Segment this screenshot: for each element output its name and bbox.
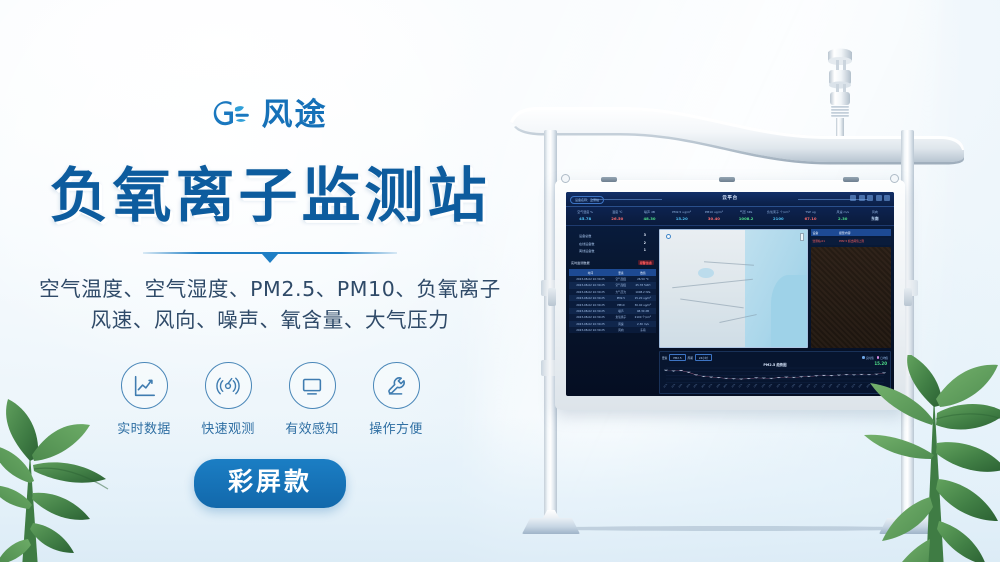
map-sea-lower xyxy=(771,275,807,348)
bezel-mount-ring-left xyxy=(561,174,570,183)
side-mount-knob-right xyxy=(904,288,912,306)
device-stats: 设备总数 3 在线设备数 2 离线设备数 1 xyxy=(569,229,656,256)
column-header: 时间 xyxy=(569,269,612,276)
export-icon[interactable] xyxy=(876,195,882,201)
stat-value: 2 xyxy=(644,241,646,246)
metric-card: 气压 hPa 1008.2 xyxy=(730,210,762,221)
stat-row: 在线设备数 2 xyxy=(573,240,652,247)
chart-title: PM2.5 趋势图 xyxy=(662,362,888,367)
metric-value: 45.78 xyxy=(569,216,601,222)
metric-value: 48.30 xyxy=(633,216,665,222)
stat-label: 在线设备数 xyxy=(579,241,594,246)
legend-label: 日均值 xyxy=(880,357,888,360)
subtitle-line-1: 空气温度、空气湿度、PM2.5、PM10、负氧离子 xyxy=(39,274,501,305)
base-plate-left xyxy=(522,518,580,534)
column-header: 数值 xyxy=(630,269,656,276)
legend-label: 实时值 xyxy=(866,357,874,360)
stat-value: 3 xyxy=(644,233,646,238)
metric-value: 67.10 xyxy=(794,216,826,222)
alarm-table-header: 设备 报警内容 xyxy=(811,229,892,236)
table-body: 2023-08-02 10:30:25空气温度26.50 ℃2023-08-02… xyxy=(569,276,656,333)
line-chart-icon xyxy=(121,362,168,409)
device-chip[interactable]: 设备名称：监测站 xyxy=(570,196,604,204)
metric-card: PM2.5 ug/m³ 15.20 xyxy=(666,210,698,221)
metric-value: 1008.2 xyxy=(730,216,762,222)
dashboard-alarm-column: 设备 报警内容 监测站-01 PM2.5 超出阈值上限 xyxy=(811,229,892,348)
metric-value: 2100 xyxy=(762,216,794,222)
chart-toolbar: 要素 PM2.5 周期 24小时 实时值 日均值 xyxy=(662,354,888,361)
wave-canopy xyxy=(500,96,970,166)
device-table-header: 实时监测数据 报警信息 xyxy=(569,259,656,266)
feature-list: 实时数据 快速观测 xyxy=(117,362,423,437)
metric-label: 温度 ℃ xyxy=(601,210,633,215)
display-screen-frame: 设备名称：监测站 云平台 空气湿度 % 45.78 xyxy=(555,180,905,410)
feature-label: 快速观测 xyxy=(201,418,255,437)
selector-label: 要素 xyxy=(662,356,667,360)
table-cell: 东南 xyxy=(630,327,656,333)
alarm-device: 监测站-01 xyxy=(813,239,837,243)
table-header-row: 时间 要素 数值 xyxy=(569,269,656,276)
chart-legend: 实时值 日均值 xyxy=(862,356,888,360)
stat-value: 1 xyxy=(644,248,646,253)
divider-triangle-icon xyxy=(262,254,278,263)
metric-label: PM10 ug/m³ xyxy=(698,210,730,215)
x-axis-tick: 05:00 xyxy=(874,384,885,392)
page-title: 负氧离子监测站 xyxy=(49,148,490,233)
stat-row: 离线设备数 1 xyxy=(573,247,652,254)
stat-row: 设备总数 3 xyxy=(573,232,652,239)
metric-label: 风速 m/s xyxy=(827,210,859,215)
metric-label: 负氧离子 个/cm³ xyxy=(762,210,794,215)
metric-label: 风向 xyxy=(859,210,891,215)
monitoring-station-product: 设备名称：监测站 云平台 空气湿度 % 45.78 xyxy=(500,30,970,540)
bezel-bolt xyxy=(843,177,859,182)
dashboard-left-column: 设备总数 3 在线设备数 2 离线设备数 1 xyxy=(569,229,656,348)
legend-item: 实时值 xyxy=(862,356,873,360)
station-map[interactable] xyxy=(659,229,808,348)
map-border-line xyxy=(672,279,752,288)
metric-card: 负氧离子 个/cm³ 2100 xyxy=(762,210,794,221)
chart-row-spacer xyxy=(569,351,656,394)
fengtu-leaf-g-logo-icon xyxy=(213,99,253,131)
ground-shadow xyxy=(530,526,940,531)
base-plate-right xyxy=(879,518,937,534)
feature-item-quick-observation[interactable]: 快速观测 xyxy=(201,362,255,437)
feature-label: 有效感知 xyxy=(285,418,339,437)
alarm-row: 监测站-01 PM2.5 超出阈值上限 xyxy=(811,238,892,245)
table-row[interactable]: 2023-08-02 10:30:25风向东南 xyxy=(569,327,656,333)
subtitle-block: 空气温度、空气湿度、PM2.5、PM10、负氧离子 风速、风向、噪声、氧含量、大… xyxy=(39,274,501,336)
chart-plot-area xyxy=(663,367,887,384)
metric-value: 15.20 xyxy=(666,216,698,222)
bezel-bolt xyxy=(601,177,617,182)
dashboard-map-column xyxy=(659,229,808,348)
alarm-message: PM2.5 超出阈值上限 xyxy=(839,239,889,243)
chart-x-axis: 00:0001:0002:0003:0004:0005:0006:0007:00… xyxy=(663,384,887,392)
dashboard-ui: 设备名称：监测站 云平台 空气湿度 % 45.78 xyxy=(566,192,894,396)
brand-logo: 风途 xyxy=(213,96,328,134)
metric-card: 噪声 dB 48.30 xyxy=(633,210,665,221)
wrench-icon xyxy=(373,362,420,409)
metric-card: PM10 ug/m³ 30.40 xyxy=(698,210,730,221)
chart-current-value: 15.20 xyxy=(874,361,887,366)
chart-icon[interactable] xyxy=(859,195,865,201)
bezel-bolt xyxy=(719,177,735,182)
brand-name: 风途 xyxy=(262,100,328,131)
metric-card: 空气湿度 % 45.78 xyxy=(569,210,601,221)
title-divider xyxy=(143,249,397,261)
metric-card: 风向 东南 xyxy=(859,210,891,221)
table-cell: 2023-08-02 10:30:25 xyxy=(569,327,612,333)
location-pin-icon[interactable] xyxy=(666,234,671,239)
selector-label: 周期 xyxy=(688,356,693,360)
alarm-icon[interactable] xyxy=(867,195,873,201)
legend-item: 日均值 xyxy=(877,356,888,360)
feature-item-realtime-data[interactable]: 实时数据 xyxy=(117,362,171,437)
trend-chart-panel: 要素 PM2.5 周期 24小时 实时值 日均值 PM2.5 趋势图 15.20 xyxy=(659,351,891,394)
monitor-screen-icon xyxy=(289,362,336,409)
camera-preview xyxy=(811,247,892,349)
subtitle-line-2: 风速、风向、噪声、氧含量、大气压力 xyxy=(39,305,501,336)
metric-label: 气压 hPa xyxy=(730,210,762,215)
color-screen-model-button[interactable]: 彩屏款 xyxy=(194,459,346,508)
metric-label: TSP ug xyxy=(794,210,826,215)
metric-strip: 空气湿度 % 45.78 温度 ℃ 26.50 噪声 dB 48.30 PM2.… xyxy=(566,207,894,226)
metric-value: 30.40 xyxy=(698,216,730,222)
dashboard-body: 设备总数 3 在线设备数 2 离线设备数 1 xyxy=(566,226,894,351)
side-mount-knob-left xyxy=(548,288,556,306)
column-header: 报警内容 xyxy=(839,231,889,235)
feature-label: 操作方便 xyxy=(369,418,423,437)
feature-item-easy-operation[interactable]: 操作方便 xyxy=(369,362,423,437)
metric-value: 26.50 xyxy=(601,216,633,222)
element-select[interactable]: PM2.5 xyxy=(669,354,685,361)
feature-label: 实时数据 xyxy=(117,418,171,437)
map-border-line xyxy=(681,298,745,307)
column-header: 要素 xyxy=(612,269,630,276)
metric-card: 温度 ℃ 26.50 xyxy=(601,210,633,221)
column-header: 设备 xyxy=(813,231,837,235)
stat-label: 离线设备数 xyxy=(579,248,594,253)
hero-text-column: 风途 负氧离子监测站 空气温度、空气湿度、PM2.5、PM10、负氧离子 风速、… xyxy=(0,0,540,562)
metric-label: 噪声 dB xyxy=(633,210,665,215)
stat-label: 设备总数 xyxy=(579,233,591,238)
metric-card: 风速 m/s 2.30 xyxy=(827,210,859,221)
map-icon[interactable] xyxy=(850,195,856,201)
dashboard-chart-row: 要素 PM2.5 周期 24小时 实时值 日均值 PM2.5 趋势图 15.20 xyxy=(566,351,894,396)
map-lake xyxy=(698,268,714,279)
feature-item-effective-sensing[interactable]: 有效感知 xyxy=(285,362,339,437)
dashboard-title: 云平台 xyxy=(722,195,738,201)
period-select[interactable]: 24小时 xyxy=(695,354,712,361)
metric-value: 东南 xyxy=(859,216,891,222)
radar-sensor-icon xyxy=(205,362,252,409)
dashboard-toolbar[interactable] xyxy=(850,195,890,201)
panel-tag[interactable]: 报警信息 xyxy=(638,260,654,265)
device-data-table: 时间 要素 数值 2023-08-02 10:30:25空气温度26.50 ℃2… xyxy=(569,269,656,333)
metric-label: 空气湿度 % xyxy=(569,210,601,215)
poster-stage: 风途 负氧离子监测站 空气温度、空气湿度、PM2.5、PM10、负氧离子 风速、… xyxy=(0,0,1000,562)
table-cell: 风向 xyxy=(612,327,630,333)
metric-value: 2.30 xyxy=(827,216,859,222)
bezel-mount-ring-right xyxy=(890,174,899,183)
settings-icon[interactable] xyxy=(884,195,890,201)
panel-title: 实时监测数据 xyxy=(571,260,590,265)
metric-card: TSP ug 67.10 xyxy=(794,210,826,221)
metric-label: PM2.5 ug/m³ xyxy=(666,210,698,215)
zoom-control-icon[interactable] xyxy=(800,233,804,241)
dashboard-header: 设备名称：监测站 云平台 xyxy=(566,192,894,207)
